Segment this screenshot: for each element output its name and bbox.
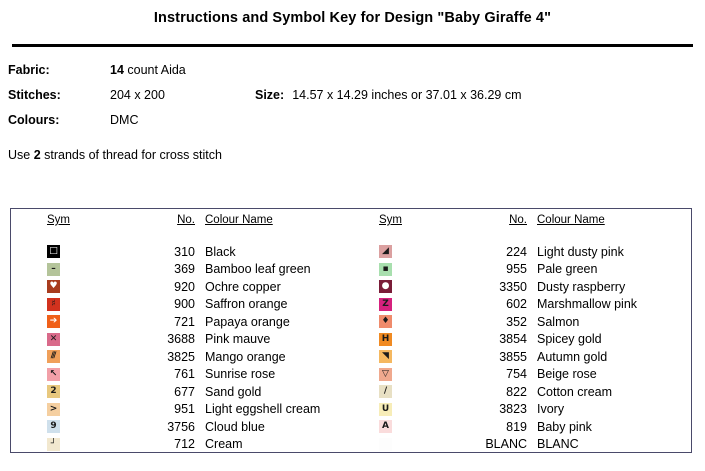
symbol-cell: □ xyxy=(47,245,107,258)
symbol-cell: ✕ xyxy=(47,333,107,346)
double-slash-symbol: ⫻ xyxy=(47,350,60,363)
key-row: ◢224Light dusty pink xyxy=(379,243,691,261)
letter-u-symbol: U xyxy=(379,403,392,416)
symbol-cell: ◥ xyxy=(379,350,439,363)
header-sym-left: Sym xyxy=(47,214,70,226)
symbol-key-table: Sym No. Colour Name □310Black–369Bamboo … xyxy=(10,208,692,453)
key-row: –369Bamboo leaf green xyxy=(47,261,351,279)
key-row: U3823Ivory xyxy=(379,401,691,419)
fabric-label: Fabric: xyxy=(0,63,110,77)
symbol-cell: ▪ xyxy=(379,263,439,276)
colour-name: BLANC xyxy=(537,437,691,451)
thread-number: 3688 xyxy=(107,332,205,346)
key-row: /822Cotton cream xyxy=(379,383,691,401)
colour-name: Papaya orange xyxy=(205,315,351,329)
key-row: ◥3855Autumn gold xyxy=(379,348,691,366)
key-row: >951Light eggshell cream xyxy=(47,401,351,419)
key-row: ⫻3825Mango orange xyxy=(47,348,351,366)
symbol-cell: A xyxy=(379,420,439,433)
colour-name: Sunrise rose xyxy=(205,367,351,381)
key-row: ┘712Cream xyxy=(47,436,351,454)
stitches-row: Stitches: 204 x 200 Size: 14.57 x 14.29 … xyxy=(0,88,705,113)
colour-name: Marshmallow pink xyxy=(537,297,691,311)
symbol-cell: 2 xyxy=(47,385,107,398)
diamond-filled-symbol: ♦ xyxy=(379,315,392,328)
right-arrow-symbol: ➔ xyxy=(47,315,60,328)
pattern-info-block: Fabric: 14 count Aida Stitches: 204 x 20… xyxy=(0,47,705,162)
key-row: 2677Sand gold xyxy=(47,383,351,401)
key-row: ♥920Ochre copper xyxy=(47,278,351,296)
symbol-cell: Z xyxy=(379,298,439,311)
key-row: 93756Cloud blue xyxy=(47,418,351,436)
fabric-count: 14 xyxy=(110,63,124,77)
key-row: ●3350Dusty raspberry xyxy=(379,278,691,296)
symbol-cell: U xyxy=(379,403,439,416)
sharp-hash-symbol: ♯ xyxy=(47,298,60,311)
colour-name: Cloud blue xyxy=(205,420,351,434)
thread-number: 310 xyxy=(107,245,205,259)
corner-angle-symbol: ┘ xyxy=(47,438,60,451)
colour-name: Light eggshell cream xyxy=(205,402,351,416)
colour-name: Pale green xyxy=(537,262,691,276)
letter-h-symbol: H xyxy=(379,333,392,346)
thread-number: 224 xyxy=(439,245,537,259)
key-rows-left: □310Black–369Bamboo leaf green♥920Ochre … xyxy=(47,243,351,453)
column-headers-left: Sym No. Colour Name xyxy=(47,214,351,234)
key-row: ✕3688Pink mauve xyxy=(47,331,351,349)
fabric-row: Fabric: 14 count Aida xyxy=(0,63,705,88)
thread-number: 955 xyxy=(439,262,537,276)
header-no-right: No. xyxy=(509,214,527,226)
fabric-count-suffix: count Aida xyxy=(124,63,186,77)
colour-name: Mango orange xyxy=(205,350,351,364)
thread-number: 822 xyxy=(439,385,537,399)
symbol-cell xyxy=(379,438,439,451)
colours-row: Colours: DMC xyxy=(0,113,705,138)
symbol-cell: 9 xyxy=(47,420,107,433)
key-row: □310Black xyxy=(47,243,351,261)
key-rows-right: ◢224Light dusty pink▪955Pale green●3350D… xyxy=(379,243,691,453)
thread-number: 3756 xyxy=(107,420,205,434)
thread-number: 712 xyxy=(107,437,205,451)
thread-number: 900 xyxy=(107,297,205,311)
strands-suffix: strands of thread for cross stitch xyxy=(41,148,222,162)
triangle-slash-symbol: ◥ xyxy=(379,350,392,363)
stitches-value: 204 x 200 xyxy=(110,88,255,102)
digit-nine-symbol: 9 xyxy=(47,420,60,433)
circle-filled-symbol: ● xyxy=(379,280,392,293)
symbol-cell: / xyxy=(379,385,439,398)
thread-number: 754 xyxy=(439,367,537,381)
digit-two-symbol: 2 xyxy=(47,385,60,398)
symbol-cell: ♯ xyxy=(47,298,107,311)
header-sym-right: Sym xyxy=(379,214,402,226)
minus-dash-symbol: – xyxy=(47,263,60,276)
thread-number: 369 xyxy=(107,262,205,276)
key-row: H3854Spicey gold xyxy=(379,331,691,349)
symbol-cell: ┘ xyxy=(47,438,107,451)
colours-label: Colours: xyxy=(0,113,110,127)
symbol-cell: ⫻ xyxy=(47,350,107,363)
thread-number: BLANC xyxy=(439,437,537,451)
colour-name: Ivory xyxy=(537,402,691,416)
thread-number: 352 xyxy=(439,315,537,329)
forward-slash-symbol: / xyxy=(379,385,392,398)
triangle-down-symbol: ▽ xyxy=(379,368,392,381)
thread-number: 677 xyxy=(107,385,205,399)
blank-swatch-symbol xyxy=(379,438,392,451)
letter-a-symbol: A xyxy=(379,420,392,433)
header-name-left: Colour Name xyxy=(205,214,273,226)
heart-symbol: ♥ xyxy=(47,280,60,293)
size-value: 14.57 x 14.29 inches or 37.01 x 36.29 cm xyxy=(292,88,521,102)
thread-number: 3825 xyxy=(107,350,205,364)
symbol-cell: – xyxy=(47,263,107,276)
thread-number: 3855 xyxy=(439,350,537,364)
symbol-key-right-column: Sym No. Colour Name ◢224Light dusty pink… xyxy=(351,214,691,453)
thread-number: 761 xyxy=(107,367,205,381)
strands-instruction: Use 2 strands of thread for cross stitch xyxy=(0,138,705,162)
symbol-cell: ♥ xyxy=(47,280,107,293)
symbol-cell: ● xyxy=(379,280,439,293)
symbol-cell: ♦ xyxy=(379,315,439,328)
header-name-right: Colour Name xyxy=(537,214,605,226)
colour-name: Autumn gold xyxy=(537,350,691,364)
arrow-nw-symbol: ↖ xyxy=(47,368,60,381)
symbol-key-left-column: Sym No. Colour Name □310Black–369Bamboo … xyxy=(11,214,351,453)
thread-number: 819 xyxy=(439,420,537,434)
symbol-cell: H xyxy=(379,333,439,346)
square-outline-symbol: □ xyxy=(47,245,60,258)
colour-name: Light dusty pink xyxy=(537,245,691,259)
key-row: BLANCBLANC xyxy=(379,436,691,454)
key-row: ➔721Papaya orange xyxy=(47,313,351,331)
letter-z-symbol: Z xyxy=(379,298,392,311)
page-title: Instructions and Symbol Key for Design "… xyxy=(0,0,705,26)
thread-number: 3823 xyxy=(439,402,537,416)
colour-name: Baby pink xyxy=(537,420,691,434)
cross-x-symbol: ✕ xyxy=(47,333,60,346)
thread-number: 951 xyxy=(107,402,205,416)
fabric-value: 14 count Aida xyxy=(110,63,255,77)
symbol-cell: ◢ xyxy=(379,245,439,258)
colour-name: Bamboo leaf green xyxy=(205,262,351,276)
colour-name: Salmon xyxy=(537,315,691,329)
thread-number: 602 xyxy=(439,297,537,311)
key-row: Z602Marshmallow pink xyxy=(379,296,691,314)
dot-square-symbol: ▪ xyxy=(379,263,392,276)
colour-name: Ochre copper xyxy=(205,280,351,294)
colour-name: Cotton cream xyxy=(537,385,691,399)
greater-than-symbol: > xyxy=(47,403,60,416)
symbol-cell: > xyxy=(47,403,107,416)
colours-value: DMC xyxy=(110,113,255,127)
symbol-cell: ▽ xyxy=(379,368,439,381)
strands-prefix: Use xyxy=(8,148,34,162)
key-row: ♦352Salmon xyxy=(379,313,691,331)
triangle-corner-symbol: ◢ xyxy=(379,245,392,258)
header-no-left: No. xyxy=(177,214,195,226)
size-label: Size: xyxy=(255,88,292,102)
colour-name: Black xyxy=(205,245,351,259)
symbol-cell: ➔ xyxy=(47,315,107,328)
stitches-label: Stitches: xyxy=(0,88,110,102)
colour-name: Saffron orange xyxy=(205,297,351,311)
colour-name: Dusty raspberry xyxy=(537,280,691,294)
colour-name: Beige rose xyxy=(537,367,691,381)
key-row: ↖761Sunrise rose xyxy=(47,366,351,384)
key-row: A819Baby pink xyxy=(379,418,691,436)
key-row: ▪955Pale green xyxy=(379,261,691,279)
thread-number: 721 xyxy=(107,315,205,329)
colour-name: Cream xyxy=(205,437,351,451)
strands-count: 2 xyxy=(34,148,41,162)
key-row: ▽754Beige rose xyxy=(379,366,691,384)
key-row: ♯900Saffron orange xyxy=(47,296,351,314)
colour-name: Spicey gold xyxy=(537,332,691,346)
colour-name: Sand gold xyxy=(205,385,351,399)
symbol-cell: ↖ xyxy=(47,368,107,381)
colour-name: Pink mauve xyxy=(205,332,351,346)
thread-number: 3350 xyxy=(439,280,537,294)
column-headers-right: Sym No. Colour Name xyxy=(379,214,691,234)
thread-number: 3854 xyxy=(439,332,537,346)
thread-number: 920 xyxy=(107,280,205,294)
